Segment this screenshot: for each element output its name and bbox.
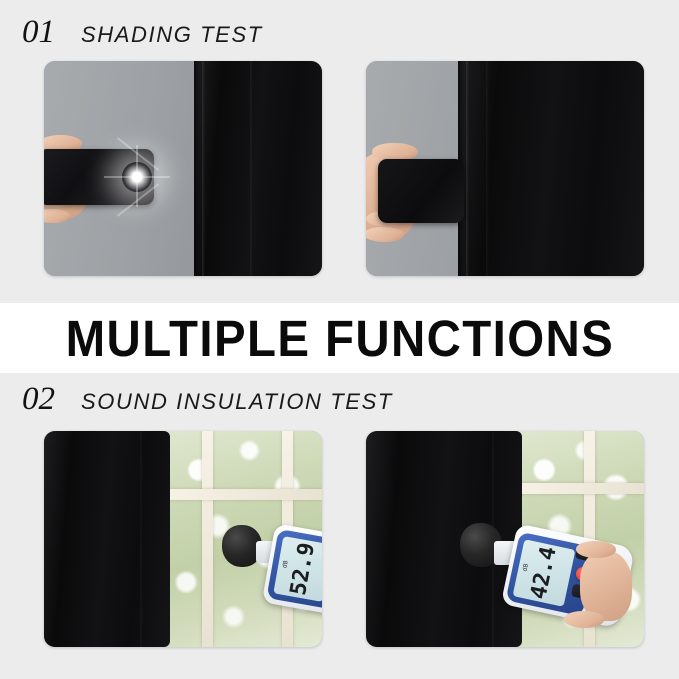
headline-text: MULTIPLE FUNCTIONS <box>65 309 614 368</box>
finger <box>366 227 404 242</box>
shading-light-on-image <box>44 61 322 276</box>
blackout-curtain-fabric <box>44 431 170 647</box>
curtain-fold-highlight <box>466 61 469 276</box>
meter-lcd-display: 52.9 dB <box>273 536 322 602</box>
photo-panel-sound-window-open: 52.9 dB <box>44 431 322 647</box>
sound-level-meter: 52.9 dB <box>220 519 322 631</box>
window-mullion-horizontal <box>516 483 644 494</box>
photo-panel-shading-light-blocked <box>366 61 644 276</box>
curtain-fold-highlight <box>202 61 205 276</box>
curtain-fold-highlight <box>486 61 489 276</box>
finger <box>564 611 604 628</box>
section-header-01: 01 SHADING TEST <box>22 14 263 51</box>
photo-panel-shading-light-on <box>44 61 322 276</box>
section-number-02: 02 <box>22 381 55 418</box>
curtain-fold-highlight <box>250 61 253 276</box>
section-title-02: SOUND INSULATION TEST <box>81 389 393 415</box>
sound-reading-unit: dB <box>281 560 289 569</box>
section-header-02: 02 SOUND INSULATION TEST <box>22 381 393 418</box>
sound-level-meter: 42.4 dB <box>460 517 630 637</box>
window-mullion-horizontal <box>164 489 322 500</box>
headline-banner: MULTIPLE FUNCTIONS <box>0 303 679 373</box>
smartphone <box>378 159 464 223</box>
section-number-01: 01 <box>22 14 55 51</box>
finger <box>576 541 616 558</box>
sound-reading-value: 42.4 <box>526 544 561 601</box>
photo-panel-sound-curtain-closed: 42.4 dB <box>366 431 644 647</box>
curtain-fold-highlight <box>140 431 143 647</box>
sound-reading-unit: dB <box>521 563 529 572</box>
curtain-edge-shadow <box>194 61 200 276</box>
blackout-curtain-fabric <box>194 61 322 276</box>
shading-light-blocked-image <box>366 61 644 276</box>
sound-curtain-closed-image: 42.4 dB <box>366 431 644 647</box>
sound-window-open-image: 52.9 dB <box>44 431 322 647</box>
window-mullion-vertical <box>202 431 213 647</box>
section-title-01: SHADING TEST <box>81 22 263 48</box>
sound-reading-value: 52.9 <box>286 541 320 598</box>
